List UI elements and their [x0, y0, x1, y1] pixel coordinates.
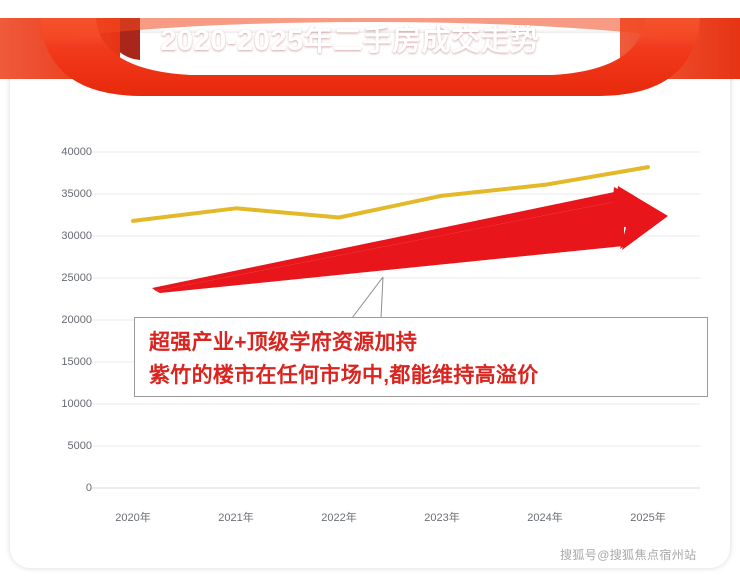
y-tick-label: 0 — [18, 482, 92, 494]
annotation-line-2: 紫竹的楼市在任何市场中,都能维持高溢价 — [149, 359, 695, 392]
x-tick-label-2020: 2020年 — [115, 509, 150, 525]
y-tick-label: 15000 — [18, 356, 92, 368]
y-tick-label: 35000 — [18, 188, 92, 200]
y-tick-label: 10000 — [18, 398, 92, 410]
y-tick-label: 20000 — [18, 314, 92, 326]
y-tick-label: 5000 — [18, 440, 92, 452]
x-tick-label-2021: 2021年 — [218, 509, 253, 525]
y-tick-label: 40000 — [18, 146, 92, 158]
x-tick-label-2023: 2023年 — [424, 509, 459, 525]
x-tick-label-2022: 2022年 — [321, 509, 356, 525]
y-tick-label: 30000 — [18, 230, 92, 242]
watermark-text: 搜狐号@搜狐焦点宿州站 — [560, 546, 697, 563]
chart-canvas — [0, 0, 740, 574]
annotation-callout-box: 超强产业+顶级学府资源加持 紫竹的楼市在任何市场中,都能维持高溢价 — [134, 317, 708, 397]
callout-leader — [352, 277, 383, 318]
chart-plot-area: 0 5000 10000 15000 20000 25000 30000 350… — [0, 0, 740, 574]
y-axis-labels: 0 5000 10000 15000 20000 25000 30000 350… — [18, 0, 92, 574]
annotation-line-1: 超强产业+顶级学府资源加持 — [149, 326, 695, 359]
x-tick-label-2024: 2024年 — [527, 509, 562, 525]
y-tick-label: 25000 — [18, 272, 92, 284]
x-tick-label-2025: 2025年 — [630, 509, 665, 525]
